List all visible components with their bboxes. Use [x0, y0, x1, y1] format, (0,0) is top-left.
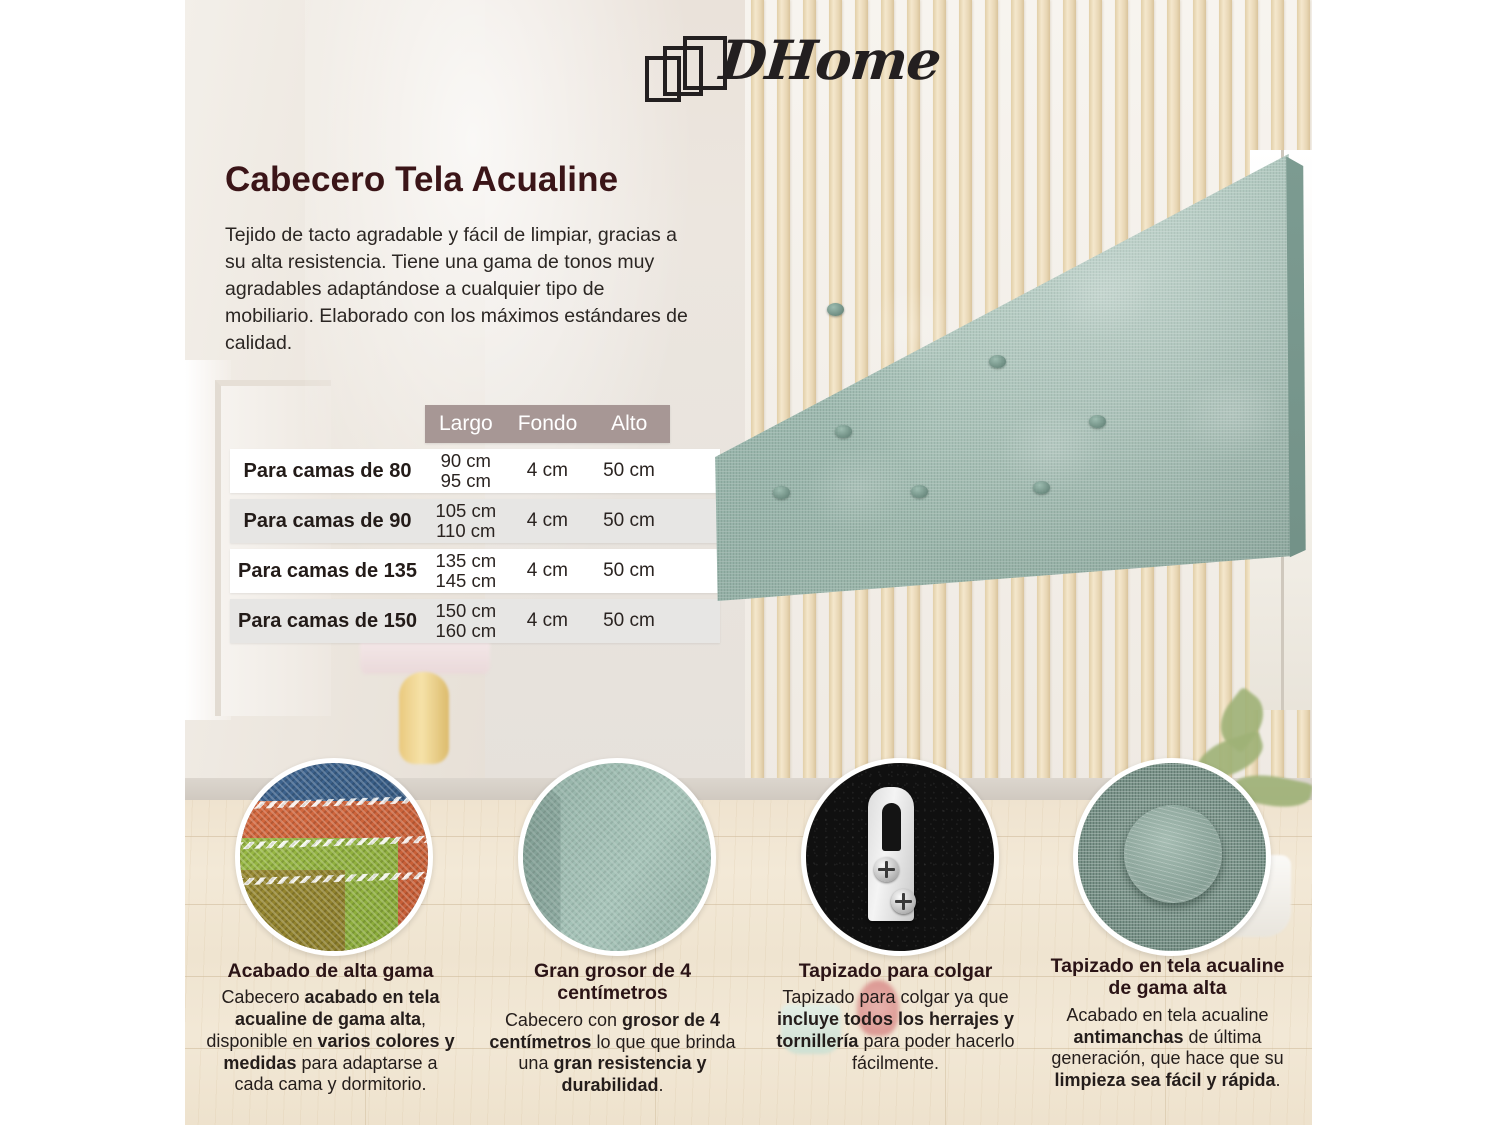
fabric-knit-texture	[240, 763, 428, 951]
table-row: Para camas de 8090 cm95 cm4 cm50 cm	[230, 449, 720, 493]
feature-heading: Gran grosor de 4 centímetros	[485, 960, 740, 1005]
tufting-button	[835, 425, 852, 438]
table-row: Para camas de 90105 cm110 cm4 cm50 cm	[230, 499, 720, 543]
cell-alto: 50 cm	[588, 461, 670, 481]
logo-wordmark: DHome	[717, 28, 944, 92]
tufting-button	[1033, 481, 1050, 494]
feature-caption-2: Gran grosor de 4 centímetros Cabecero co…	[485, 960, 740, 1097]
table-row: Para camas de 135135 cm145 cm4 cm50 cm	[230, 549, 720, 593]
thickness-fabric-texture	[523, 763, 711, 951]
cell-fondo: 4 cm	[507, 561, 589, 581]
tufting-button	[773, 486, 790, 499]
feature-body: Tapizado para colgar ya que incluye todo…	[768, 987, 1023, 1074]
product-description: Tejido de tacto agradable y fácil de lim…	[225, 222, 695, 357]
cell-largo: 90 cm95 cm	[425, 451, 507, 490]
cell-alto: 50 cm	[588, 511, 670, 531]
bracket-keyhole-slot	[882, 803, 901, 851]
tufting-button	[989, 355, 1006, 368]
table-header-row: Largo Fondo Alto	[425, 405, 670, 443]
feature-heading: Tapizado para colgar	[768, 960, 1023, 982]
cell-largo: 105 cm110 cm	[425, 501, 507, 540]
tufting-button	[911, 485, 928, 498]
cell-largo: 135 cm145 cm	[425, 551, 507, 590]
feature-body: Acabado en tela acualine antimanchas de …	[1040, 1005, 1295, 1092]
cell-alto: 50 cm	[588, 611, 670, 631]
page-title: Cabecero Tela Acualine	[225, 160, 695, 200]
blurred-lamp-base	[399, 672, 449, 764]
cell-fondo: 4 cm	[507, 461, 589, 481]
phillips-screw	[874, 857, 899, 882]
table-body: Para camas de 8090 cm95 cm4 cm50 cmPara …	[230, 449, 720, 643]
feature-heading: Acabado de alta gama	[203, 960, 458, 982]
product-scene: DHome Cabecero Tela Acualine Tejido de t…	[185, 0, 1312, 1125]
feature-body: Cabecero con grosor de 4 centímetros lo …	[485, 1010, 740, 1097]
headboard-product-image	[703, 118, 1312, 718]
cell-alto: 50 cm	[588, 561, 670, 581]
feature-heading: Tapizado en tela acualine de gama alta	[1040, 955, 1295, 1000]
feature-circle-button	[1073, 758, 1271, 956]
infographic-canvas: DHome Cabecero Tela Acualine Tejido de t…	[0, 0, 1500, 1125]
row-label: Para camas de 80	[230, 460, 425, 483]
feature-caption-4: Tapizado en tela acualine de gama alta A…	[1040, 955, 1295, 1092]
upholstery-button	[1124, 805, 1222, 903]
feature-caption-3: Tapizado para colgar Tapizado para colga…	[768, 960, 1023, 1074]
row-label: Para camas de 135	[230, 560, 425, 583]
cell-fondo: 4 cm	[507, 511, 589, 531]
row-label: Para camas de 90	[230, 510, 425, 533]
tufting-button	[1089, 415, 1106, 428]
dimensions-table: Largo Fondo Alto Para camas de 8090 cm95…	[230, 405, 720, 643]
feature-circle-thickness	[518, 758, 716, 956]
row-label: Para camas de 150	[230, 610, 425, 633]
feature-circle-bracket	[801, 758, 999, 956]
brand-logo: DHome	[645, 30, 905, 108]
headboard-highlight	[703, 118, 1312, 718]
headline-block: Cabecero Tela Acualine Tejido de tacto a…	[225, 160, 695, 357]
cell-fondo: 4 cm	[507, 611, 589, 631]
column-header-largo: Largo	[425, 412, 507, 436]
button-weave-texture	[1124, 805, 1222, 903]
table-row: Para camas de 150150 cm160 cm4 cm50 cm	[230, 599, 720, 643]
feature-body: Cabecero acabado en tela acualine de gam…	[203, 987, 458, 1096]
column-header-alto: Alto	[588, 412, 670, 436]
phillips-screw	[891, 889, 916, 914]
feature-circle-fabric-swatches	[235, 758, 433, 956]
feature-caption-1: Acabado de alta gama Cabecero acabado en…	[203, 960, 458, 1096]
column-header-fondo: Fondo	[507, 412, 589, 436]
tufting-button	[827, 303, 844, 316]
cell-largo: 150 cm160 cm	[425, 601, 507, 640]
